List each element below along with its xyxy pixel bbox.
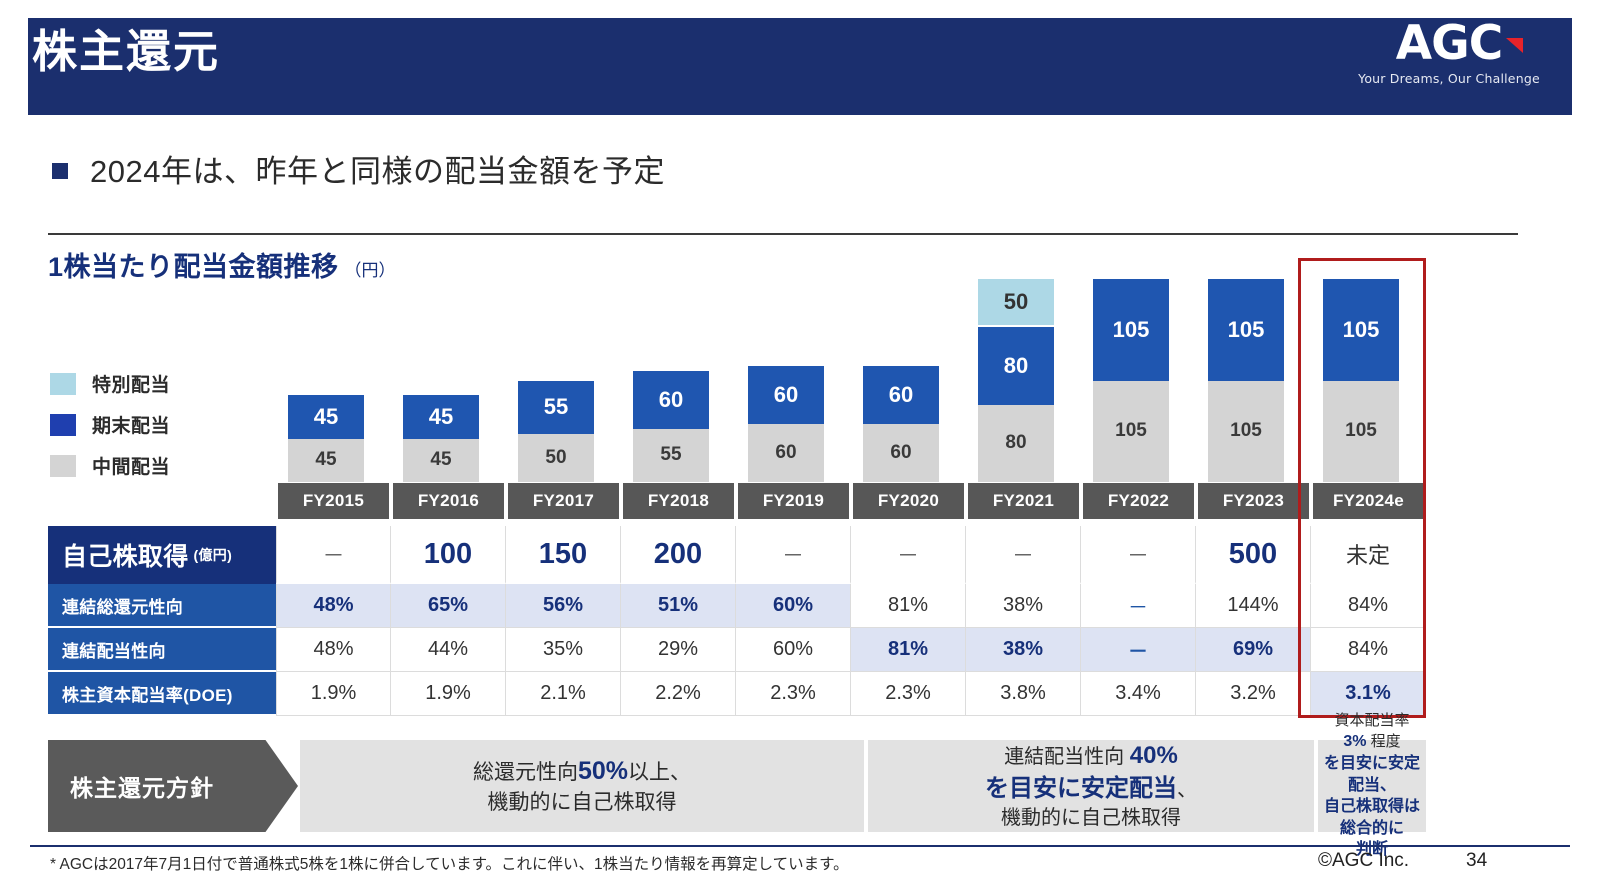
bar-value-label: 105 [1345,420,1377,442]
interim-dividend-segment: 45 [403,439,479,482]
policy-emphasis: 50% [578,757,628,785]
bar-value-label: 105 [1228,317,1265,343]
table-cell: － [851,526,966,584]
policy-emphasis: を目安に安定配当、 [1324,755,1420,794]
year-header-cell: FY2023 [1198,483,1309,519]
table-cell: 100 [391,526,506,584]
row-label-unit: (億円) [194,545,233,565]
final-dividend-segment: 60 [863,366,939,424]
footer-page-number: 34 [1466,850,1487,872]
bar-value-label: 60 [659,387,683,413]
table-cell: 3.8% [966,672,1081,716]
table-cell: － [1081,526,1196,584]
bar-value-label: 105 [1115,420,1147,442]
bar-stack: 6060 [748,366,824,482]
policy-text: 機動的に自己株取得 [1001,807,1181,829]
table-cell: 51% [621,584,736,628]
table-cells: 48%44%35%29%60%81%38%－69%84% [276,628,1426,672]
table-cell: － [966,526,1081,584]
policy-text: 、 [1177,779,1197,801]
row-label-text: 連結総還元性向 [62,593,183,618]
table-cell: 44% [391,628,506,672]
row-label-text: 自己株取得 [62,537,189,573]
legend-color-chip [50,414,76,436]
footer-copyright: ©AGC Inc. [1318,850,1409,872]
bar-stack: 4545 [288,395,364,482]
year-header-cell: FY2018 [623,483,734,519]
policy-line: 機動的に自己株取得 [488,789,677,817]
table-cell: 1.9% [276,672,391,716]
table-cell: 3.2% [1196,672,1311,716]
table-cell: 38% [966,584,1081,628]
dividend-bar-chart: 4545454555506055606060605080801051051051… [276,255,1426,482]
policy-line: 自己株取得は総合的に [1324,796,1420,839]
year-header-cell: FY2022 [1083,483,1194,519]
table-cell: 35% [506,628,621,672]
row-label-text: 株主資本配当率(DOE) [62,681,233,706]
footer-divider [30,845,1570,847]
legend-label: 特別配当 [92,370,170,397]
policy-line: 総還元性向50%以上、 [473,755,691,789]
year-header-cell: FY2015 [278,483,389,519]
table-cell: 3.1% [1311,672,1426,716]
table-cell: 1.9% [391,672,506,716]
policy-text: 資本配当率 [1334,712,1409,729]
bar-stack: 6060 [863,366,939,482]
interim-dividend-segment: 80 [978,405,1054,482]
policy-text: 総還元性向 [473,761,578,784]
table-row: 株主資本配当率(DOE)1.9%1.9%2.1%2.2%2.3%2.3%3.8%… [48,672,1426,716]
interim-dividend-segment: 45 [288,439,364,482]
policy-emphasis: 3% [1343,733,1366,750]
bar-value-label: 60 [889,382,913,408]
legend-item: 期末配当 [50,404,170,445]
bar-value-label: 50 [545,447,566,469]
logo-text: AGC [1396,18,1502,70]
bullet-row: 2024年は、昨年と同様の配当金額を予定 [52,146,665,191]
table-cell: 60% [736,628,851,672]
table-cell: 56% [506,584,621,628]
year-header-cell: FY2021 [968,483,1079,519]
bar-stack: 6055 [633,371,709,482]
table-cell: 81% [851,584,966,628]
final-dividend-segment: 60 [748,366,824,424]
table-row: 連結配当性向48%44%35%29%60%81%38%－69%84% [48,628,1426,672]
year-header-cell: FY2024e [1313,483,1424,519]
policy-line: 資本配当率 3% 程度 [1324,711,1420,753]
table-cell: 150 [506,526,621,584]
shareholder-return-policy-band: 株主還元方針 総還元性向50%以上、機動的に自己株取得連結配当性向 40%を目安… [48,740,1426,832]
policy-emphasis: 自己株取得は総合的に [1324,798,1420,837]
bar-value-label: 105 [1230,420,1262,442]
policy-2024e: 資本配当率 3% 程度を目安に安定配当、自己株取得は総合的に判断 [1318,740,1426,832]
bar-value-label: 55 [660,444,681,466]
year-header-cell: FY2020 [853,483,964,519]
table-cell: 69% [1196,628,1311,672]
policy-emphasis: 40% [1130,742,1178,769]
chart-legend: 特別配当期末配当中間配当 [50,363,170,486]
table-cell: 2.1% [506,672,621,716]
year-header-cell: FY2017 [508,483,619,519]
table-cell: 2.3% [851,672,966,716]
logo-tagline: Your Dreams, Our Challenge [1344,71,1554,86]
table-row-label: 自己株取得(億円) [48,526,276,584]
bar-value-label: 50 [1004,289,1028,315]
bar-stack: 4545 [403,395,479,482]
policy-2020-2023: 連結配当性向 40%を目安に安定配当、機動的に自己株取得 [868,740,1314,832]
policy-line: を目安に安定配当、 [1324,753,1420,796]
bar-stack: 508080 [978,279,1054,482]
policy-text: 機動的に自己株取得 [488,791,677,814]
table-cell: 200 [621,526,736,584]
table-row: 連結総還元性向48%65%56%51%60%81%38%－144%84% [48,584,1426,628]
table-cell: 48% [276,584,391,628]
final-dividend-segment: 105 [1093,279,1169,380]
final-dividend-segment: 80 [978,327,1054,404]
bullet-square-icon [52,163,68,179]
final-dividend-segment: 105 [1323,279,1399,380]
table-cell: 29% [621,628,736,672]
final-dividend-segment: 60 [633,371,709,429]
bar-value-label: 60 [890,442,911,464]
bar-value-label: 105 [1113,317,1150,343]
bar-value-label: 45 [429,404,453,430]
final-dividend-segment: 45 [288,395,364,438]
bar-value-label: 45 [430,449,451,471]
slide-root: 株主還元 AGC Your Dreams, Our Challenge 2024… [0,0,1600,896]
policy-text: 程度 [1366,733,1400,750]
interim-dividend-segment: 60 [748,424,824,482]
final-dividend-segment: 45 [403,395,479,438]
year-header-cell: FY2016 [393,483,504,519]
table-cells: 1.9%1.9%2.1%2.2%2.3%2.3%3.8%3.4%3.2%3.1% [276,672,1426,716]
table-cell: 65% [391,584,506,628]
year-header-cell: FY2019 [738,483,849,519]
bar-value-label: 45 [315,449,336,471]
page-title: 株主還元 [32,26,220,78]
interim-dividend-segment: 105 [1323,381,1399,482]
table-cells: －100150200－－－－500未定 [276,526,1426,584]
table-cell: 未定 [1311,526,1426,584]
policy-line: 連結配当性向 40% [1004,740,1178,772]
table-cell: 60% [736,584,851,628]
table-cell: － [736,526,851,584]
bar-value-label: 80 [1005,432,1026,454]
row-label-text: 連結配当性向 [62,637,166,662]
policy-text: 連結配当性向 [1004,746,1130,768]
bar-value-label: 60 [774,382,798,408]
legend-color-chip [50,373,76,395]
chart-year-header-row: FY2015FY2016FY2017FY2018FY2019FY2020FY20… [276,483,1426,519]
table-cell: 3.4% [1081,672,1196,716]
table-row-label: 連結配当性向 [48,628,276,672]
table-cell: 84% [1311,628,1426,672]
policy-emphasis: を目安に安定配当 [985,775,1177,802]
bar-value-label: 55 [544,394,568,420]
interim-dividend-segment: 60 [863,424,939,482]
final-dividend-segment: 105 [1208,279,1284,380]
policy-line: を目安に安定配当、 [985,773,1197,805]
bar-stack: 105105 [1323,279,1399,482]
table-cell: 81% [851,628,966,672]
header-band [28,18,1572,115]
bar-value-label: 80 [1004,353,1028,379]
policy-line: 機動的に自己株取得 [1001,805,1181,832]
table-row-label: 連結総還元性向 [48,584,276,628]
table-cell: 500 [1196,526,1311,584]
bar-value-label: 60 [775,442,796,464]
policy-arrow-label: 株主還元方針 [48,740,298,832]
interim-dividend-segment: 50 [518,434,594,482]
policy-text: 以上、 [628,761,691,784]
bar-value-label: 45 [314,404,338,430]
table-cell: － [1081,628,1196,672]
bar-stack: 5550 [518,381,594,482]
table-cell: － [276,526,391,584]
legend-item: 中間配当 [50,445,170,486]
legend-item: 特別配当 [50,363,170,404]
table-cell: 84% [1311,584,1426,628]
legend-label: 中間配当 [92,452,170,479]
table-cell: － [1081,584,1196,628]
table-row-label: 株主資本配当率(DOE) [48,672,276,716]
interim-dividend-segment: 55 [633,429,709,482]
bar-stack: 105105 [1208,279,1284,482]
table-cell: 144% [1196,584,1311,628]
policy-title: 株主還元方針 [70,769,214,803]
interim-dividend-segment: 105 [1208,381,1284,482]
table-cell: 2.2% [621,672,736,716]
table-cell: 2.3% [736,672,851,716]
table-cell: 48% [276,628,391,672]
table-row: 自己株取得(億円)－100150200－－－－500未定 [48,526,1426,584]
table-cells: 48%65%56%51%60%81%38%－144%84% [276,584,1426,628]
agc-logo: AGC Your Dreams, Our Challenge [1344,18,1554,86]
legend-color-chip [50,455,76,477]
section-divider [48,233,1518,235]
bullet-text: 2024年は、昨年と同様の配当金額を予定 [90,146,665,191]
metrics-table: 自己株取得(億円)－100150200－－－－500未定連結総還元性向48%65… [48,526,1426,716]
final-dividend-segment: 55 [518,381,594,434]
logo-accent-icon [1506,38,1523,53]
footer-note: * AGCは2017年7月1日付で普通株式5株を1株に併合しています。これに伴い… [50,852,849,874]
table-cell: 38% [966,628,1081,672]
policy-2015-2019: 総還元性向50%以上、機動的に自己株取得 [300,740,864,832]
bar-value-label: 105 [1343,317,1380,343]
legend-label: 期末配当 [92,411,170,438]
bar-stack: 105105 [1093,279,1169,482]
interim-dividend-segment: 105 [1093,381,1169,482]
special-dividend-segment: 50 [978,279,1054,327]
